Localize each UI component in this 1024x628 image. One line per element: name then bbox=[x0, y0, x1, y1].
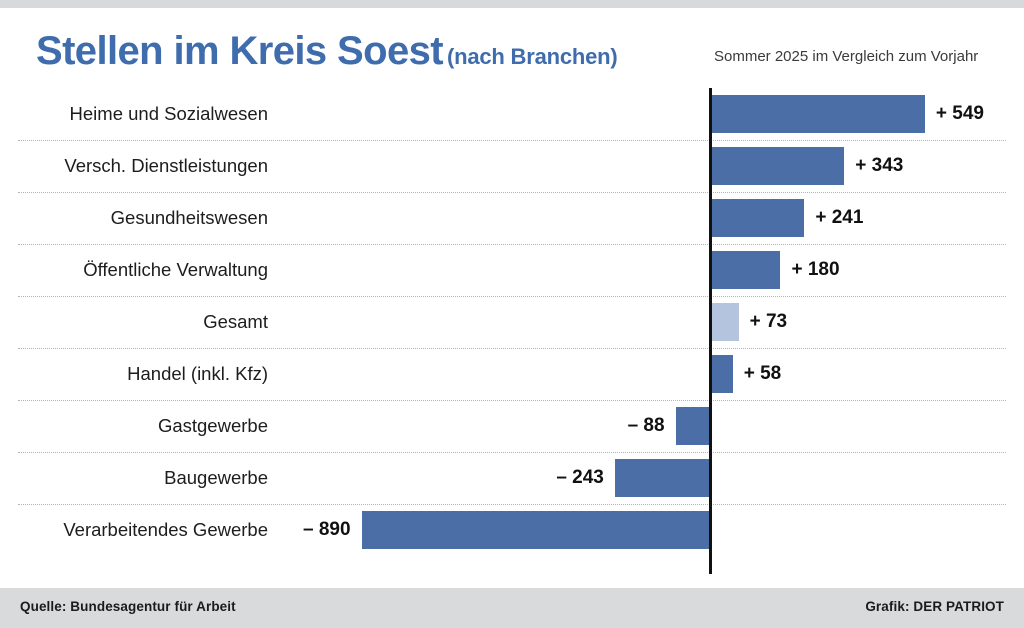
category-label: Gesundheitswesen bbox=[0, 192, 268, 244]
bar-chart-plot: Heime und Sozialwesen+ 549Versch. Dienst… bbox=[0, 86, 1024, 580]
category-label: Versch. Dienstleistungen bbox=[0, 140, 268, 192]
category-label: Handel (inkl. Kfz) bbox=[0, 348, 268, 400]
title-subtitle: (nach Branchen) bbox=[447, 44, 618, 69]
category-label: Gesamt bbox=[0, 296, 268, 348]
bar-negative bbox=[362, 511, 710, 549]
chart-header: Stellen im Kreis Soest(nach Branchen) So… bbox=[0, 8, 1024, 86]
bar-value-label: – 243 bbox=[0, 452, 604, 504]
chart-row: Baugewerbe– 243 bbox=[0, 452, 1024, 504]
bar-value-label: – 88 bbox=[0, 400, 665, 452]
bar-value-label: + 343 bbox=[855, 140, 903, 192]
period-label: Sommer 2025 im Vergleich zum Vorjahr bbox=[714, 48, 978, 65]
category-label: Öffentliche Verwaltung bbox=[0, 244, 268, 296]
bar-positive bbox=[710, 199, 804, 237]
chart-row: Heime und Sozialwesen+ 549 bbox=[0, 88, 1024, 140]
bar-positive bbox=[710, 251, 780, 289]
chart-row: Gesamt+ 73 bbox=[0, 296, 1024, 348]
bar-positive bbox=[710, 147, 844, 185]
chart-row: Gastgewerbe– 88 bbox=[0, 400, 1024, 452]
chart-row: Gesundheitswesen+ 241 bbox=[0, 192, 1024, 244]
chart-row: Versch. Dienstleistungen+ 343 bbox=[0, 140, 1024, 192]
category-label: Heime und Sozialwesen bbox=[0, 88, 268, 140]
bar-positive bbox=[710, 303, 739, 341]
credit-label: Grafik: DER PATRIOT bbox=[865, 599, 1004, 614]
zero-axis-line bbox=[709, 88, 712, 574]
page-title: Stellen im Kreis Soest(nach Branchen) bbox=[36, 29, 618, 74]
bar-value-label: + 241 bbox=[815, 192, 863, 244]
chart-row: Handel (inkl. Kfz)+ 58 bbox=[0, 348, 1024, 400]
chart-row: Verarbeitendes Gewerbe– 890 bbox=[0, 504, 1024, 556]
bar-value-label: + 58 bbox=[744, 348, 782, 400]
bar-value-label: + 180 bbox=[791, 244, 839, 296]
bar-negative bbox=[676, 407, 710, 445]
infographic: Stellen im Kreis Soest(nach Branchen) So… bbox=[0, 0, 1024, 628]
source-label: Quelle: Bundesagentur für Arbeit bbox=[20, 599, 236, 614]
top-band bbox=[0, 0, 1024, 8]
bar-value-label: – 890 bbox=[0, 504, 351, 556]
bar-value-label: + 73 bbox=[750, 296, 788, 348]
bar-negative bbox=[615, 459, 710, 497]
chart-row: Öffentliche Verwaltung+ 180 bbox=[0, 244, 1024, 296]
title-main: Stellen im Kreis Soest bbox=[36, 29, 443, 73]
bar-value-label: + 549 bbox=[936, 88, 984, 140]
footer-band: Quelle: Bundesagentur für Arbeit Grafik:… bbox=[0, 588, 1024, 628]
bar-positive bbox=[710, 355, 733, 393]
bar-positive bbox=[710, 95, 925, 133]
